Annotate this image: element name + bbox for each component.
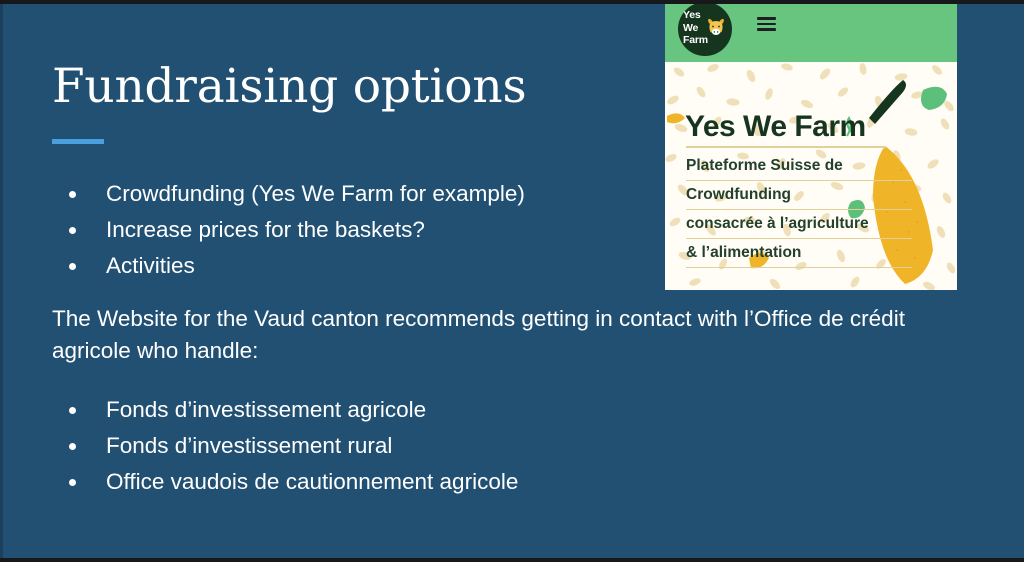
list-item-label: Activities xyxy=(106,253,195,278)
website-hero-banner: Yes We Farm Plateforme Suisse de Crowdfu… xyxy=(665,62,957,290)
hamburger-menu-icon[interactable] xyxy=(757,17,776,31)
slide: Fundraising options Crowdfunding (Yes We… xyxy=(0,0,1024,562)
bullet-dot-icon xyxy=(69,407,76,414)
bullet-dot-icon xyxy=(69,227,76,234)
hamburger-bar xyxy=(757,28,776,31)
cow-head-icon xyxy=(705,16,727,38)
bullet-dot-icon xyxy=(69,191,76,198)
yellow-accent-shape xyxy=(667,113,685,123)
banner-heading: Yes We Farm xyxy=(685,110,866,144)
list-item: Increase prices for the baskets? xyxy=(58,212,525,248)
yellow-carrot-shape xyxy=(873,146,933,284)
list-item-label: Fonds d’investissement rural xyxy=(106,433,392,458)
banner-subtitle-line: & l’alimentation xyxy=(686,243,869,272)
list-item-label: Fonds d’investissement agricole xyxy=(106,397,426,422)
list-item-label: Crowdfunding (Yes We Farm for example) xyxy=(106,181,525,206)
slide-top-border xyxy=(0,0,1024,4)
banner-subtitle-lines: Plateforme Suisse de Crowdfunding consac… xyxy=(686,156,869,272)
banner-heading-rule xyxy=(686,146,886,148)
body-paragraph: The Website for the Vaud canton recommen… xyxy=(52,303,970,367)
yes-we-farm-logo[interactable]: Yes We Farm xyxy=(678,2,732,56)
list-item: Fonds d’investissement agricole xyxy=(58,392,518,428)
dark-green-pepper-shape xyxy=(869,80,906,124)
banner-subtitle-line: Crowdfunding xyxy=(686,185,869,214)
funds-list: Fonds d’investissement agricole Fonds d’… xyxy=(58,392,518,500)
hamburger-bar xyxy=(757,23,776,26)
yes-we-farm-website-screenshot: Yes We Farm xyxy=(665,0,957,290)
bullet-dot-icon xyxy=(69,443,76,450)
banner-subtitle-line: consacrée à l’agriculture xyxy=(686,214,869,243)
fundraising-options-list: Crowdfunding (Yes We Farm for example) I… xyxy=(58,176,525,284)
list-item: Fonds d’investissement rural xyxy=(58,428,518,464)
slide-left-border xyxy=(0,0,3,562)
bullet-dot-icon xyxy=(69,263,76,270)
banner-subtitle-line: Plateforme Suisse de xyxy=(686,156,869,185)
slide-bottom-border xyxy=(0,558,1024,562)
website-header-bar: Yes We Farm xyxy=(665,0,957,62)
list-item-label: Increase prices for the baskets? xyxy=(106,217,425,242)
green-bean-shape xyxy=(921,87,947,110)
list-item: Activities xyxy=(58,248,525,284)
list-item: Crowdfunding (Yes We Farm for example) xyxy=(58,176,525,212)
page-title: Fundraising options xyxy=(52,62,526,113)
title-accent-rule xyxy=(52,139,104,144)
bullet-dot-icon xyxy=(69,479,76,486)
hamburger-bar xyxy=(757,17,776,20)
list-item: Office vaudois de cautionnement agricole xyxy=(58,464,518,500)
list-item-label: Office vaudois de cautionnement agricole xyxy=(106,469,518,494)
